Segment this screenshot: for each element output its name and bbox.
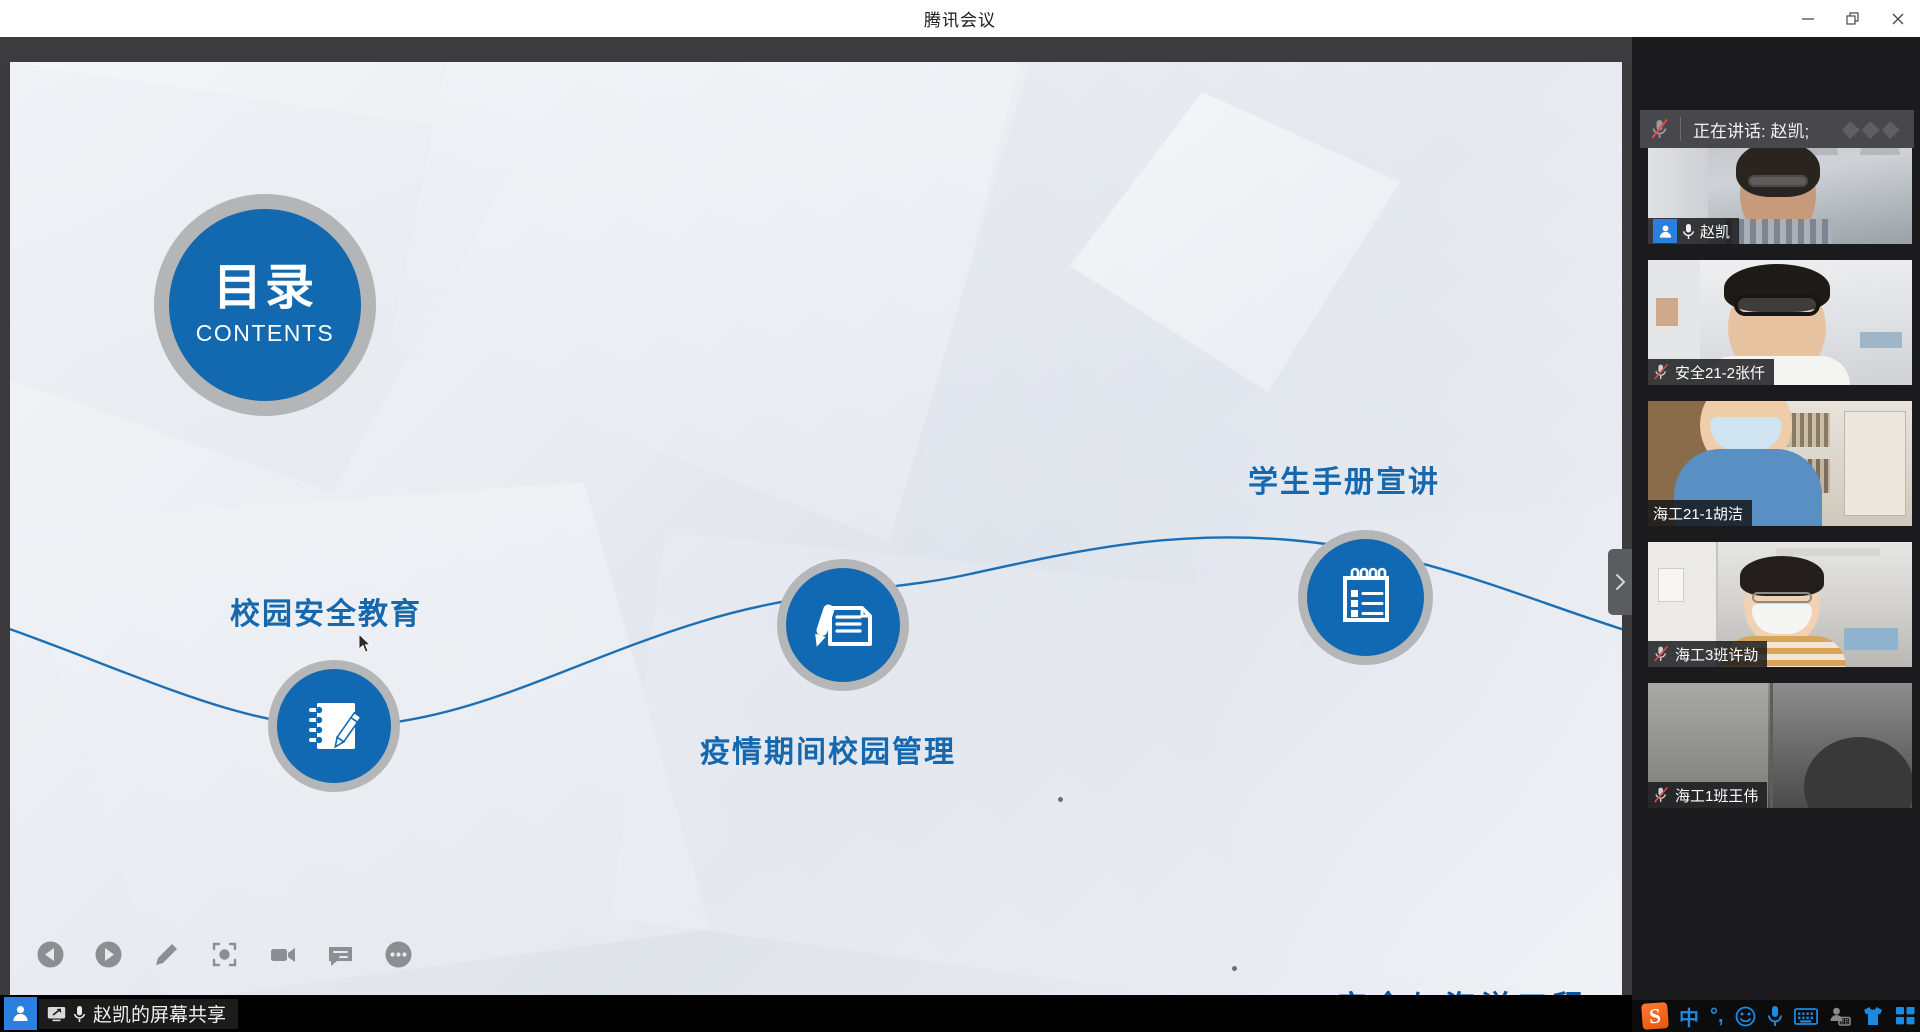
person-glasses <box>1752 592 1812 603</box>
contents-title-en: CONTENTS <box>196 320 335 347</box>
video-scene-detail <box>1844 411 1906 516</box>
person-shirt <box>1726 219 1832 244</box>
avatar <box>1653 219 1677 243</box>
muted-microphone-icon <box>1653 786 1670 804</box>
avatar <box>4 997 37 1030</box>
participant-name: 安全21-2张仟 <box>1675 362 1765 383</box>
muted-microphone-icon <box>1640 118 1680 140</box>
slide-player-toolbar[interactable] <box>35 939 414 970</box>
video-camera-icon <box>268 940 297 969</box>
participant-tile[interactable]: 海工1班王伟 <box>1648 683 1912 808</box>
collapse-panel-handle[interactable] <box>1608 549 1632 615</box>
screenshot-button[interactable] <box>209 939 240 970</box>
participant-name: 海工21-1胡洁 <box>1653 503 1743 524</box>
ime-app-grid-button[interactable] <box>1895 1006 1916 1026</box>
share-bottom-bar: 赵凯的屏幕共享 <box>0 995 1632 1032</box>
ceiling-light <box>1776 548 1880 556</box>
focus-frame-icon <box>210 940 239 969</box>
grid-apps-icon <box>1895 1006 1916 1026</box>
sogou-logo-icon[interactable]: S <box>1641 1002 1669 1030</box>
presentation-slide: 目录 CONTENTS <box>10 62 1622 995</box>
section-label-1: 校园安全教育 <box>230 589 422 633</box>
notebook-pencil-icon <box>301 693 367 759</box>
user-abc-icon: BB <box>1829 1006 1851 1026</box>
chevron-right-icon <box>1614 573 1627 591</box>
annotate-pen-button[interactable] <box>151 939 182 970</box>
prev-slide-button[interactable] <box>35 939 66 970</box>
window-title-bar: 腾讯会议 <box>0 0 1920 37</box>
video-scene-detail <box>1844 628 1898 650</box>
svg-text:BB: BB <box>1840 1019 1849 1026</box>
ime-soft-keyboard-button[interactable] <box>1794 1008 1818 1025</box>
close-button[interactable] <box>1875 0 1920 37</box>
ime-user-tools-button[interactable]: BB <box>1829 1006 1851 1026</box>
shared-screen-area[interactable]: 目录 CONTENTS <box>0 37 1632 995</box>
microphone-icon <box>1767 1005 1783 1027</box>
participant-name-badge: 安全21-2张仟 <box>1648 359 1774 385</box>
chevron-right-circle-icon <box>94 940 123 969</box>
screen-share-status[interactable]: 赵凯的屏幕共享 <box>0 995 238 1032</box>
chat-button[interactable] <box>325 939 356 970</box>
slide-speck <box>1058 797 1063 802</box>
person-icon <box>11 1004 30 1023</box>
active-speaker-text: 正在讲话: 赵凯; <box>1693 117 1809 142</box>
participant-name-badge: 赵凯 <box>1648 218 1739 244</box>
smiley-icon <box>1735 1006 1756 1027</box>
restore-button[interactable] <box>1830 0 1875 37</box>
muted-microphone-icon <box>1653 363 1670 381</box>
minimize-button[interactable] <box>1785 0 1830 37</box>
ime-voice-input-button[interactable] <box>1767 1005 1783 1027</box>
keyboard-icon <box>1794 1008 1818 1025</box>
person-glasses <box>1748 175 1808 187</box>
video-scene-detail <box>1656 298 1678 326</box>
section-node-2-inner <box>786 568 900 682</box>
window-title: 腾讯会议 <box>924 6 996 31</box>
section-node-1 <box>268 660 400 792</box>
next-slide-button[interactable] <box>93 939 124 970</box>
person-silhouette <box>1804 737 1912 808</box>
participant-name-badge: 海工21-1胡洁 <box>1648 500 1752 526</box>
tshirt-icon <box>1862 1006 1884 1026</box>
screen-share-icon <box>47 1006 66 1022</box>
more-options-button[interactable] <box>383 939 414 970</box>
close-icon <box>1891 12 1905 26</box>
share-top-strip <box>0 37 1632 62</box>
ime-emoji-button[interactable] <box>1735 1006 1756 1027</box>
speaker-bar-divider <box>1680 117 1681 141</box>
contents-title-cn: 目录 <box>213 263 317 314</box>
share-status-chip: 赵凯的屏幕共享 <box>39 999 238 1029</box>
speech-bubble-icon <box>326 940 355 969</box>
participant-name-badge: 海工1班王伟 <box>1648 782 1767 808</box>
minimize-icon <box>1801 12 1815 26</box>
ime-punctuation-button[interactable]: °, <box>1710 1005 1724 1028</box>
person-hair <box>1736 141 1820 197</box>
participant-name: 海工1班王伟 <box>1675 785 1758 806</box>
participant-name: 海工3班许劼 <box>1675 644 1758 665</box>
slide-speck <box>1232 966 1237 971</box>
person-icon <box>1658 224 1673 239</box>
ime-skin-theme-button[interactable] <box>1862 1006 1884 1026</box>
section-node-3 <box>1298 530 1433 665</box>
school-logo: 安全与海洋工程学院 COLLEGE OF SAFETY AND OCEAN EN… <box>1263 982 1622 995</box>
person-glasses <box>1734 294 1820 316</box>
participant-tile[interactable]: 海工3班许劼 <box>1648 542 1912 667</box>
participant-tile[interactable]: 安全21-2张仟 <box>1648 260 1912 385</box>
ime-language-mode-button[interactable]: 中 <box>1679 1002 1699 1031</box>
participant-tile[interactable]: 海工21-1胡洁 <box>1648 401 1912 526</box>
muted-microphone-icon <box>1653 645 1670 663</box>
video-scene-detail <box>1860 332 1902 348</box>
restore-window-icon <box>1846 12 1860 26</box>
microphone-icon <box>73 1005 86 1023</box>
window-controls <box>1785 0 1920 37</box>
section-label-2: 疫情期间校园管理 <box>700 727 956 771</box>
section-label-3: 学生手册宣讲 <box>1248 457 1440 501</box>
clipboard-checklist-icon <box>1332 564 1400 632</box>
contents-badge-inner: 目录 CONTENTS <box>169 209 361 401</box>
active-speaker-bar: 正在讲话: 赵凯; <box>1640 110 1914 148</box>
chevron-left-circle-icon <box>36 940 65 969</box>
share-status-text: 赵凯的屏幕共享 <box>93 1000 226 1027</box>
section-node-1-inner <box>277 669 391 783</box>
record-video-button[interactable] <box>267 939 298 970</box>
participants-panel: 正在讲话: 赵凯; <box>1632 37 1920 1032</box>
participant-name: 赵凯 <box>1700 221 1730 242</box>
microphone-icon <box>1682 223 1695 240</box>
ellipsis-circle-icon <box>384 940 413 969</box>
section-node-3-inner <box>1307 539 1424 656</box>
contents-badge: 目录 CONTENTS <box>154 194 376 416</box>
pencil-icon <box>152 940 181 969</box>
person-hair <box>1740 556 1824 596</box>
section-node-2 <box>777 559 909 691</box>
speaker-wave-indicator <box>1842 118 1902 140</box>
participant-name-badge: 海工3班许劼 <box>1648 641 1767 667</box>
wall-notice <box>1658 568 1684 602</box>
sogou-ime-toolbar[interactable]: S 中 °, <box>1632 1000 1920 1032</box>
document-pen-icon <box>808 592 878 658</box>
wall-edge <box>1770 683 1773 808</box>
school-name-cn: 安全与海洋工程学院 <box>1337 982 1622 995</box>
